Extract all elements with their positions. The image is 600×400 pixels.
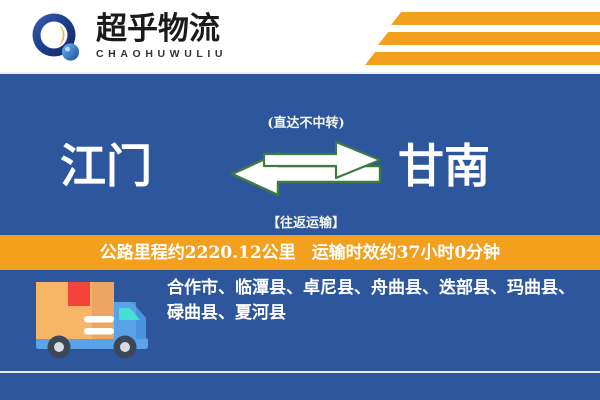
circle-q-logo-icon: [31, 12, 83, 64]
orange-slanted-stripes-icon: [378, 32, 600, 45]
orange-slanted-stripes-icon: [365, 52, 600, 65]
divider-top: [0, 72, 600, 74]
divider-bottom: [0, 371, 600, 373]
orange-slanted-stripes-icon: [391, 12, 600, 25]
route-info-bar: 公路里程约2220.12公里 运输时效约37小时0分钟: [0, 235, 600, 270]
brand-name-en: CHAOHUWULIU: [96, 48, 296, 61]
delivery-truck-icon: [30, 278, 154, 367]
direct-shipping-note: (直达不中转): [228, 116, 384, 132]
double-headed-arrow-icon: [230, 140, 382, 203]
route-section: 江门 (直达不中转): [0, 112, 600, 247]
route-arrow-block: (直达不中转) 【往返运输】: [228, 112, 384, 247]
duration-text: 运输时效约37小时0分钟: [312, 243, 501, 263]
banner-body: 江门 (直达不中转): [0, 72, 600, 400]
distance-text: 公路里程约2220.12公里: [100, 243, 296, 263]
roundtrip-note: 【往返运输】: [228, 216, 384, 232]
brand-lockup: 超乎物流 CHAOHUWULIU: [96, 12, 296, 64]
coverage-areas-text: 合作市、临潭县、卓尼县、舟曲县、迭部县、玛曲县、碌曲县、夏河县: [167, 276, 585, 326]
brand-name-cn: 超乎物流: [96, 12, 296, 46]
logistics-route-banner: 超乎物流 CHAOHUWULIU 江门 (直达不中转): [0, 0, 600, 400]
origin-city: 江门: [60, 138, 152, 194]
coverage-section: 合作市、临潭县、卓尼县、舟曲县、迭部县、玛曲县、碌曲县、夏河县: [0, 270, 600, 370]
banner-header: 超乎物流 CHAOHUWULIU: [0, 0, 600, 72]
destination-city: 甘南: [398, 138, 490, 194]
